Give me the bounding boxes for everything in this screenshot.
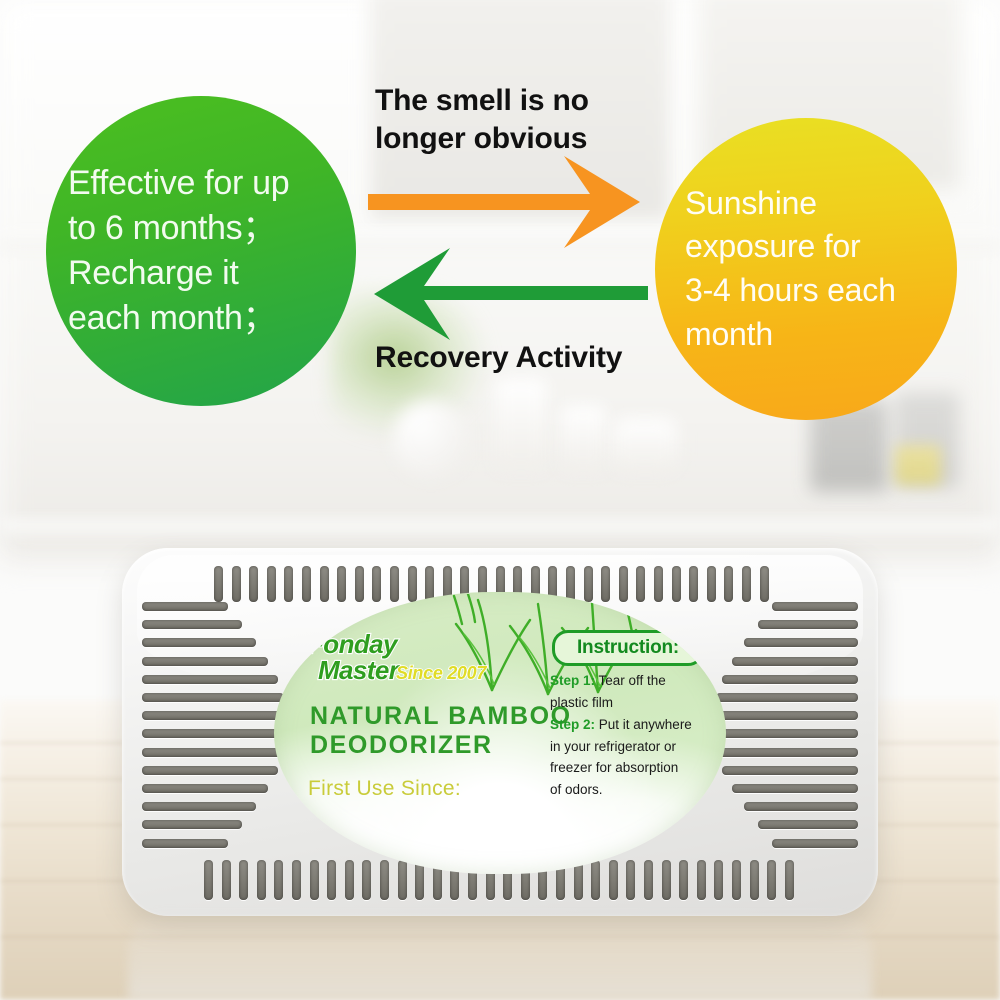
vent-slot: [662, 860, 671, 900]
vent-slot: [337, 566, 346, 602]
effectiveness-circle: Effective for up to 6 months； Recharge i…: [46, 96, 356, 406]
background-jar-1: [495, 378, 547, 470]
vent-slot: [712, 729, 858, 738]
recharge-line-1: Sunshine: [685, 182, 896, 226]
vent-slot: [257, 860, 266, 900]
vent-slot: [214, 566, 223, 602]
vent-slot: [222, 860, 231, 900]
vent-slot: [679, 860, 688, 900]
background-shelf-lower: [0, 520, 1000, 536]
vent-slot: [142, 820, 242, 829]
background-bowl: [612, 418, 678, 472]
recharge-line-3: 3-4 hours each: [685, 269, 896, 313]
vent-slot: [689, 566, 698, 602]
recovery-arrow: [358, 248, 658, 348]
instruction-step-line: of odors.: [550, 779, 718, 801]
vent-slot: [362, 860, 371, 900]
vent-slot: [722, 675, 858, 684]
instruction-step-key: Step 1:: [550, 673, 595, 688]
instruction-steps: Step 1: Tear off theplastic filmStep 2: …: [550, 670, 718, 801]
vent-slot: [785, 860, 794, 900]
effectiveness-line-4: each month；: [68, 296, 289, 341]
instruction-step-text: in your refrigerator or: [550, 739, 676, 754]
vent-slot: [380, 860, 389, 900]
instruction-step-line: plastic film: [550, 692, 718, 714]
product-name-line-2: DEODORIZER: [310, 731, 572, 760]
vent-slot: [591, 860, 600, 900]
vent-slot: [398, 860, 407, 900]
vent-slot: [142, 766, 278, 775]
vent-slot: [355, 566, 364, 602]
vent-slot: [142, 802, 256, 811]
vent-slot: [744, 802, 858, 811]
vent-slot: [758, 820, 858, 829]
vent-slot: [732, 657, 858, 666]
vent-slot: [722, 766, 858, 775]
vent-slot: [716, 748, 858, 757]
vent-slot: [760, 566, 769, 602]
vent-slot: [249, 566, 258, 602]
since-badge: Since 2007: [396, 663, 486, 684]
vent-slot: [142, 620, 242, 629]
forward-label-line-2: longer obvious: [375, 120, 625, 158]
effectiveness-circle-text: Effective for up to 6 months； Recharge i…: [46, 161, 305, 342]
vent-slot: [327, 860, 336, 900]
vent-slot: [712, 711, 858, 720]
forward-arrow: [368, 152, 668, 252]
vent-slot: [284, 566, 293, 602]
brand-line-2: Master: [318, 657, 398, 683]
vent-slot: [345, 860, 354, 900]
vent-slot: [408, 566, 417, 602]
vent-slot: [697, 860, 706, 900]
vent-slot: [142, 602, 228, 611]
recharge-line-2: exposure for: [685, 225, 896, 269]
vent-slot: [644, 860, 653, 900]
brand-line-1: Fonday: [308, 632, 398, 657]
vent-slot: [724, 566, 733, 602]
recharge-circle-text: Sunshine exposure for 3-4 hours each mon…: [655, 182, 910, 356]
vent-slot: [320, 566, 329, 602]
vent-slot: [267, 566, 276, 602]
vent-slot: [142, 839, 228, 848]
instruction-step-text: freezer for absorption: [550, 760, 678, 775]
forward-label-line-1: The smell is no: [375, 82, 625, 120]
vent-slot: [302, 566, 311, 602]
instruction-step-line: freezer for absorption: [550, 757, 718, 779]
vent-slot: [772, 602, 858, 611]
vent-slot: [142, 693, 284, 702]
effectiveness-line-3: Recharge it: [68, 251, 289, 296]
vent-slot: [232, 566, 241, 602]
instruction-step-text: Put it anywhere: [595, 717, 692, 732]
effectiveness-line-2: to 6 months；: [68, 206, 289, 251]
vent-slot: [142, 748, 284, 757]
vent-slot: [609, 860, 618, 900]
instruction-step-line: Step 2: Put it anywhere: [550, 714, 718, 736]
vent-slot: [750, 860, 759, 900]
vent-slot: [732, 860, 741, 900]
vent-slot: [714, 860, 723, 900]
instruction-title-box: Instruction:: [552, 630, 704, 666]
vent-slot: [772, 839, 858, 848]
vent-slot: [204, 860, 213, 900]
vent-slot: [142, 711, 288, 720]
instruction-step-line: in your refrigerator or: [550, 736, 718, 758]
product-device: Fonday Master Since 2007 NATURAL BAMBOO …: [122, 548, 878, 916]
vent-slot: [732, 784, 858, 793]
instruction-step-text: of odors.: [550, 782, 603, 797]
vent-slot: [390, 566, 399, 602]
background-vase: [392, 400, 470, 478]
vent-slot: [672, 566, 681, 602]
instruction-step-line: Step 1: Tear off the: [550, 670, 718, 692]
product-name-line-1: NATURAL BAMBOO: [310, 702, 572, 731]
forward-arrow-label: The smell is no longer obvious: [375, 82, 625, 158]
vent-slot: [744, 638, 858, 647]
recovery-arrow-label: Recovery Activity: [375, 340, 665, 376]
vent-slot: [716, 693, 858, 702]
vent-slot: [767, 860, 776, 900]
vent-slot: [142, 657, 268, 666]
background-yellow-jar: [895, 445, 941, 485]
vent-slot: [654, 566, 663, 602]
vent-slot: [142, 729, 288, 738]
brand-logo: Fonday Master: [308, 632, 398, 683]
recharge-circle: Sunshine exposure for 3-4 hours each mon…: [655, 118, 957, 420]
vent-slot: [758, 620, 858, 629]
vent-slot: [372, 566, 381, 602]
vent-slot: [274, 860, 283, 900]
vent-slot: [142, 638, 256, 647]
vent-slot: [626, 860, 635, 900]
vent-slot: [742, 566, 751, 602]
product-name: NATURAL BAMBOO DEODORIZER: [310, 702, 572, 761]
instruction-step-key: Step 2:: [550, 717, 595, 732]
infographic-canvas: Effective for up to 6 months； Recharge i…: [0, 0, 1000, 1000]
instruction-step-text: plastic film: [550, 695, 613, 710]
vent-slot: [707, 566, 716, 602]
background-jar-2: [560, 405, 606, 471]
vent-slot: [142, 675, 278, 684]
recovery-label-line-1: Recovery Activity: [375, 340, 665, 376]
device-reflection: [128, 908, 872, 1000]
vent-slot: [292, 860, 301, 900]
instruction-title: Instruction:: [577, 637, 679, 659]
product-label: Fonday Master Since 2007 NATURAL BAMBOO …: [274, 592, 726, 874]
vent-slot: [142, 784, 268, 793]
recharge-line-4: month: [685, 313, 896, 357]
vent-slot: [239, 860, 248, 900]
effectiveness-line-1: Effective for up: [68, 161, 289, 206]
instruction-step-text: Tear off the: [595, 673, 666, 688]
vent-slot: [310, 860, 319, 900]
first-use-field: First Use Since:: [308, 777, 461, 801]
